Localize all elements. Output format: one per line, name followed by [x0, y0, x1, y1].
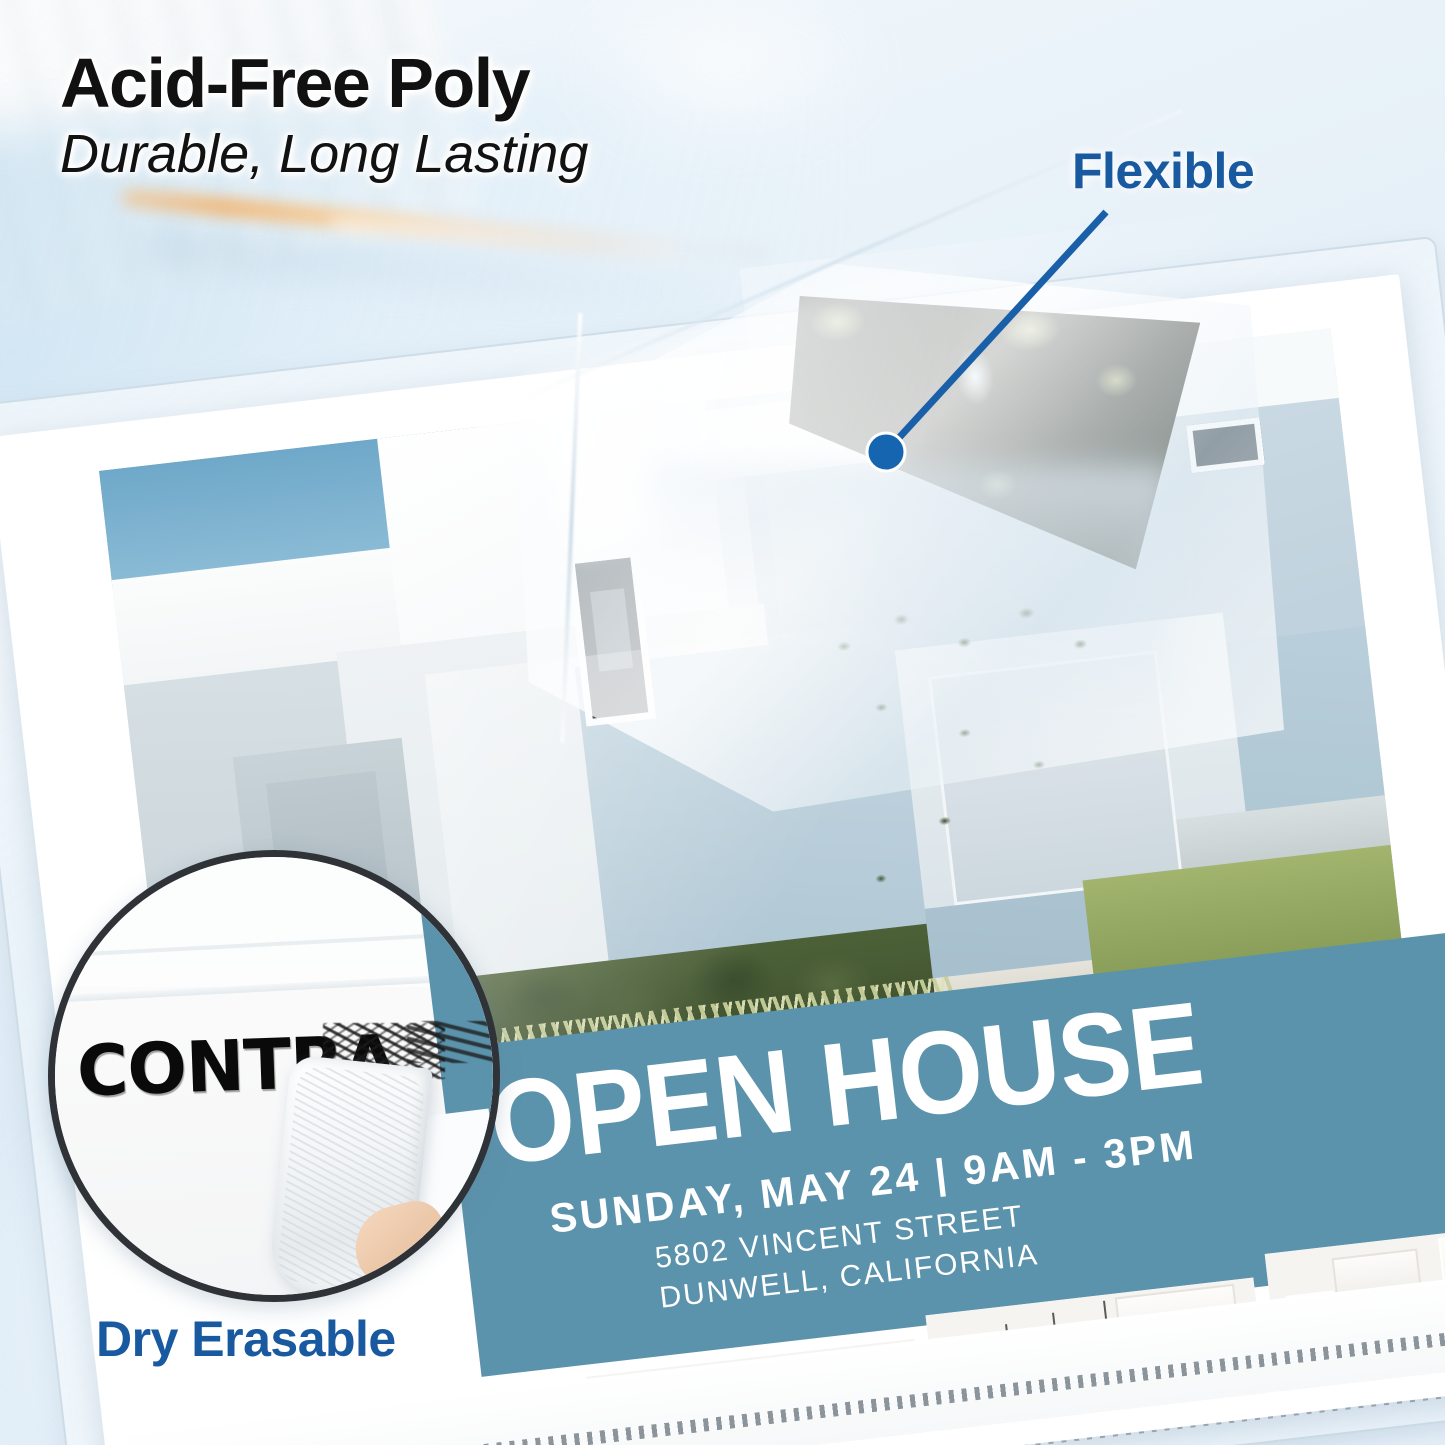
callout-label-dry-erasable: Dry Erasable: [96, 1310, 396, 1368]
background-highlight-a: [560, 0, 890, 160]
product-image-canvas: OPEN HOUSE SUNDAY, MAY 24 | 9AM - 3PM 58…: [0, 0, 1445, 1445]
page-subtitle: Durable, Long Lasting: [60, 123, 588, 185]
photo-window-small-right: [1186, 417, 1265, 473]
inset-dry-erase-detail: CONTRA: [48, 850, 500, 1302]
callout-label-flexible: Flexible: [1072, 142, 1254, 200]
page-title: Acid-Free Poly: [60, 48, 588, 119]
inset-ink-smear: [407, 1021, 500, 1063]
headline-block: Acid-Free Poly Durable, Long Lasting: [60, 48, 588, 185]
